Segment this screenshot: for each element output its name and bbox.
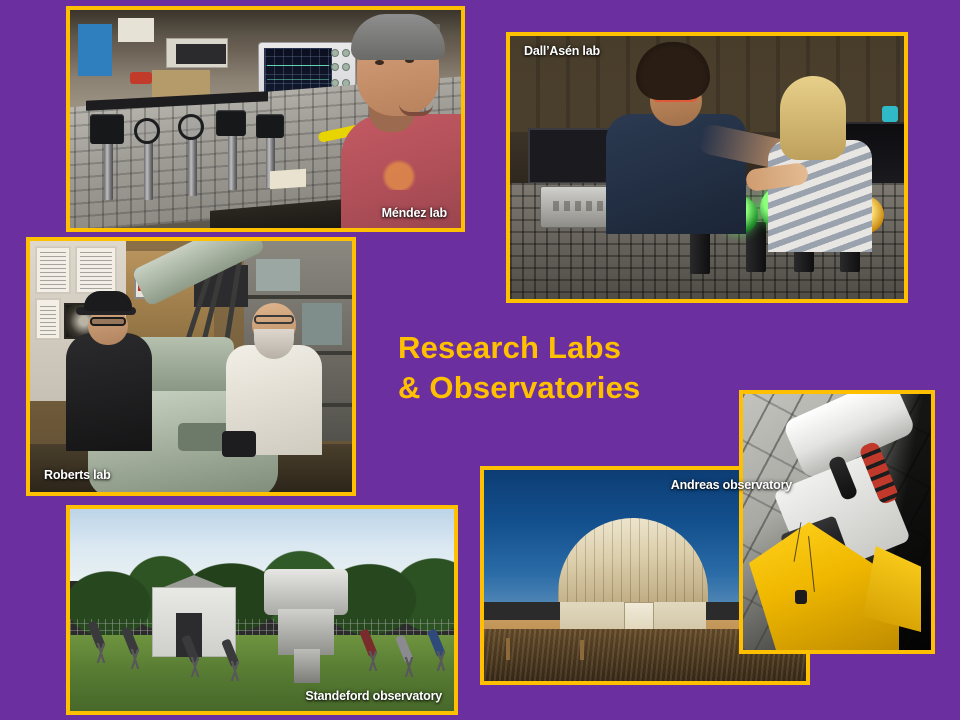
optical-post xyxy=(228,134,237,190)
cyan-marker xyxy=(882,106,898,122)
wall-document xyxy=(36,247,70,293)
photo-caption-dallasen-lab: Dall’Asén lab xyxy=(524,44,600,58)
eyeglasses xyxy=(90,317,126,326)
telescope-pier xyxy=(294,649,320,683)
camera-body xyxy=(222,431,256,457)
cable-connector xyxy=(795,590,807,604)
optical-mount xyxy=(90,114,124,144)
small-telescope xyxy=(428,629,454,669)
oscilloscope-trace xyxy=(267,65,329,66)
small-post xyxy=(506,638,510,660)
photo-caption-andreas-observatory: Andreas observatory xyxy=(671,478,792,492)
photo-roberts-lab-image xyxy=(30,241,352,492)
optical-post xyxy=(144,142,153,200)
student-one-hair xyxy=(636,42,710,100)
lens-mount xyxy=(134,118,160,144)
dark-monitor xyxy=(528,128,616,184)
optic-mount xyxy=(690,228,710,274)
optical-post xyxy=(188,138,197,196)
paper-note xyxy=(270,169,306,190)
photo-telescope-in-dome[interactable] xyxy=(739,390,935,654)
researcher-hair xyxy=(351,14,445,60)
slide-title: Research Labs & Observatories xyxy=(398,328,728,408)
baseball-cap xyxy=(84,291,132,311)
photo-roberts-lab[interactable]: Roberts lab xyxy=(26,237,356,496)
small-telescope xyxy=(182,635,208,675)
wall-poster xyxy=(118,18,154,42)
laptop-screen xyxy=(176,44,226,64)
photo-telescope-in-dome-image xyxy=(743,394,931,650)
small-telescope xyxy=(396,635,422,675)
mirror-mount xyxy=(216,110,246,136)
photo-standeford-observatory-image xyxy=(70,509,454,711)
photo-caption-mendez-lab: Méndez lab xyxy=(382,206,447,220)
small-post xyxy=(580,640,584,660)
eyeglasses xyxy=(254,315,294,324)
small-telescope xyxy=(222,639,248,679)
shirt-graphic xyxy=(379,156,419,190)
photo-dallasen-lab-image xyxy=(510,36,904,299)
red-laser-housing xyxy=(130,72,152,84)
small-telescope xyxy=(122,627,148,667)
photo-mendez-lab[interactable]: Méndez lab xyxy=(66,6,465,232)
lens-mount xyxy=(178,114,204,140)
photo-mendez-lab-image xyxy=(70,10,461,228)
small-telescope xyxy=(360,629,386,669)
researcher-portrait xyxy=(335,10,461,228)
slide-canvas: Méndez lab xyxy=(0,0,960,720)
photo-dallasen-lab[interactable]: Dall’Asén lab xyxy=(506,32,908,303)
student-two-hair xyxy=(780,76,846,160)
mirror-mount xyxy=(256,114,284,138)
oscilloscope-trace xyxy=(267,79,329,80)
photo-caption-roberts-lab: Roberts lab xyxy=(44,468,111,482)
wall-document xyxy=(76,247,116,293)
person-one-hoodie xyxy=(66,333,152,451)
blue-wall-panel xyxy=(78,24,112,76)
photo-caption-standeford-observatory: Standeford observatory xyxy=(305,689,442,703)
large-telescope xyxy=(256,565,360,661)
wall-document xyxy=(36,299,60,339)
small-telescope xyxy=(88,621,114,661)
photo-standeford-observatory[interactable]: Standeford observatory xyxy=(66,505,458,715)
